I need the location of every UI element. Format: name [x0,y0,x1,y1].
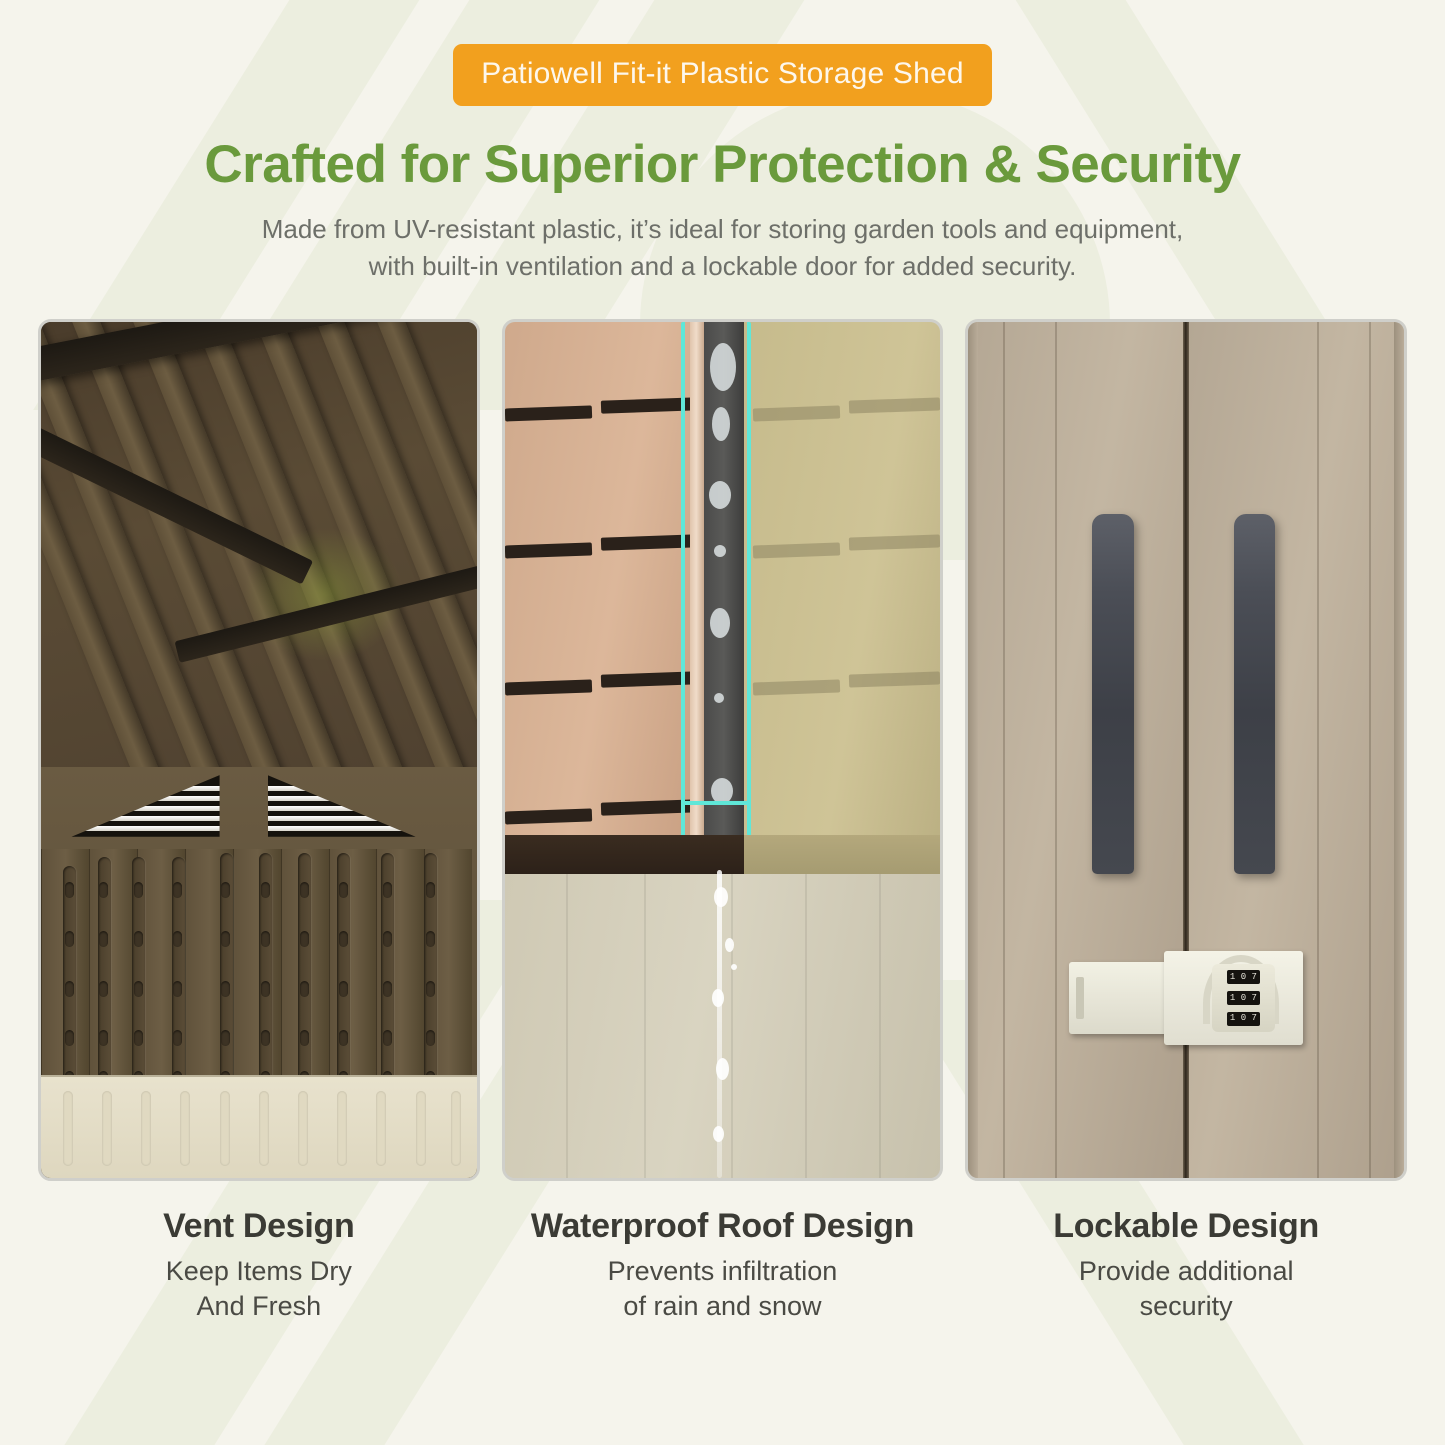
vent-louver-right [268,775,416,837]
waterproof-roof-subtitle: Prevents infiltration of rain and snow [502,1254,944,1325]
vent-design-caption: Vent Design Keep Items Dry And Fresh [38,1207,480,1325]
shed-door-left [968,322,1183,1178]
lock-hasp[interactable]: 1 0 7 1 0 7 1 0 7 [1069,951,1309,1045]
combination-dials[interactable]: 1 0 7 1 0 7 1 0 7 [1227,970,1261,1026]
roof-underside [41,322,477,784]
door-handle-left[interactable] [1092,514,1133,874]
lockable-design-subtitle-line-2: security [965,1289,1407,1325]
vent-louver-left [71,775,219,837]
dial-row-3[interactable]: 1 0 7 [1230,1014,1257,1023]
page-title: Crafted for Superior Protection & Securi… [0,134,1445,195]
shed-door-right [1189,322,1404,1178]
lockable-design-subtitle: Provide additional security [965,1254,1407,1325]
product-title-badge: Patiowell Fit-it Plastic Storage Shed [453,44,992,106]
page-subtitle: Made from UV-resistant plastic, it’s ide… [0,211,1445,285]
page-subtitle-line-2: with built-in ventilation and a lockable… [0,248,1445,285]
vent-design-photo [38,319,480,1181]
feature-card-row: Vent Design Keep Items Dry And Fresh [0,319,1445,1325]
vent-design-subtitle-line-1: Keep Items Dry [38,1254,480,1290]
roof-eave-right [744,835,940,878]
infographic-page: Patiowell Fit-it Plastic Storage Shed Cr… [0,0,1445,1445]
waterproof-roof-subtitle-line-2: of rain and snow [502,1289,944,1325]
lockable-design-subtitle-line-1: Provide additional [965,1254,1407,1290]
highlight-outline [681,322,751,857]
door-handle-right[interactable] [1234,514,1275,874]
waterproof-roof-subtitle-line-1: Prevents infiltration [502,1254,944,1290]
lockable-design-photo: 1 0 7 1 0 7 1 0 7 [965,319,1407,1181]
waterproof-roof-title: Waterproof Roof Design [502,1207,944,1246]
vent-design-title: Vent Design [38,1207,480,1246]
feature-card-lockable-design: 1 0 7 1 0 7 1 0 7 Lockable Design Provid… [965,319,1407,1325]
badge-row: Patiowell Fit-it Plastic Storage Shed [0,0,1445,106]
base-panel [41,1075,477,1178]
page-subtitle-line-1: Made from UV-resistant plastic, it’s ide… [0,211,1445,248]
feature-card-vent-design: Vent Design Keep Items Dry And Fresh [38,319,480,1325]
vent-design-subtitle: Keep Items Dry And Fresh [38,1254,480,1325]
waterproof-roof-photo [502,319,944,1181]
lockable-design-caption: Lockable Design Provide additional secur… [965,1207,1407,1325]
dial-row-2[interactable]: 1 0 7 [1230,994,1257,1003]
waterproof-roof-caption: Waterproof Roof Design Prevents infiltra… [502,1207,944,1325]
feature-card-waterproof-roof-design: Waterproof Roof Design Prevents infiltra… [502,319,944,1325]
lockable-design-title: Lockable Design [965,1207,1407,1246]
vent-design-subtitle-line-2: And Fresh [38,1289,480,1325]
dial-row-1[interactable]: 1 0 7 [1230,973,1257,982]
door-gap [1183,322,1189,1178]
